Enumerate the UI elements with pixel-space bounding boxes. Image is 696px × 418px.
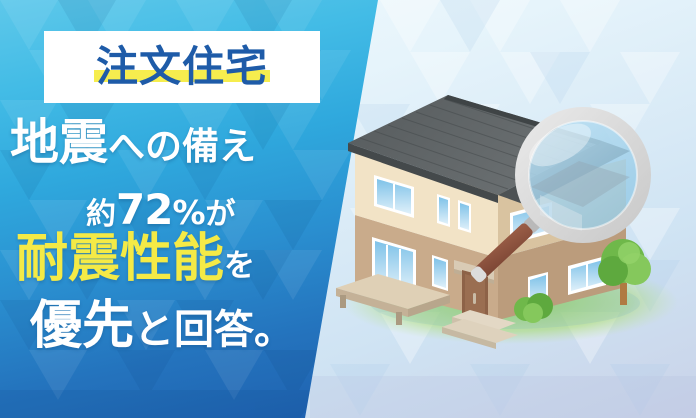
emphasis-line: 耐震性能を [16, 233, 255, 285]
headline-line-1: 地震への備え [10, 118, 256, 167]
statistic-unit: % [172, 193, 205, 232]
window-upper-left-2 [437, 194, 450, 227]
banner-root: 注文住宅 地震への備え 約72%が 耐震性能を 優先と回答。 [0, 0, 696, 418]
category-chip-inner: 注文住宅 [90, 46, 274, 88]
category-label: 注文住宅 [96, 42, 268, 91]
category-chip: 注文住宅 [44, 31, 320, 103]
tree-trunk [620, 283, 627, 305]
conclusion-line: 優先と回答。 [30, 300, 294, 352]
statistic-number: 72 [116, 185, 172, 234]
deck-leg-right [396, 312, 402, 325]
headline-line-1-tail: への備え [108, 125, 256, 168]
headline-line-1-main: 地震 [10, 114, 108, 171]
window-lower-left-small [432, 255, 448, 291]
window-upper-left-3 [458, 200, 471, 233]
conclusion-tail: と回答。 [134, 307, 294, 353]
emphasis-text: 耐震性能 [16, 229, 224, 289]
house-illustration [330, 55, 696, 355]
emphasis-particle: を [224, 248, 255, 284]
conclusion-main: 優先 [30, 296, 134, 356]
deck-leg-left [340, 295, 346, 308]
door-handle [473, 293, 476, 304]
tree-foliage-highlight [618, 242, 640, 264]
statistic-line: 約72%が [86, 189, 236, 231]
statistic-particle: が [206, 197, 236, 232]
statistic-prefix: 約 [86, 197, 116, 232]
shrub-3 [523, 303, 543, 323]
